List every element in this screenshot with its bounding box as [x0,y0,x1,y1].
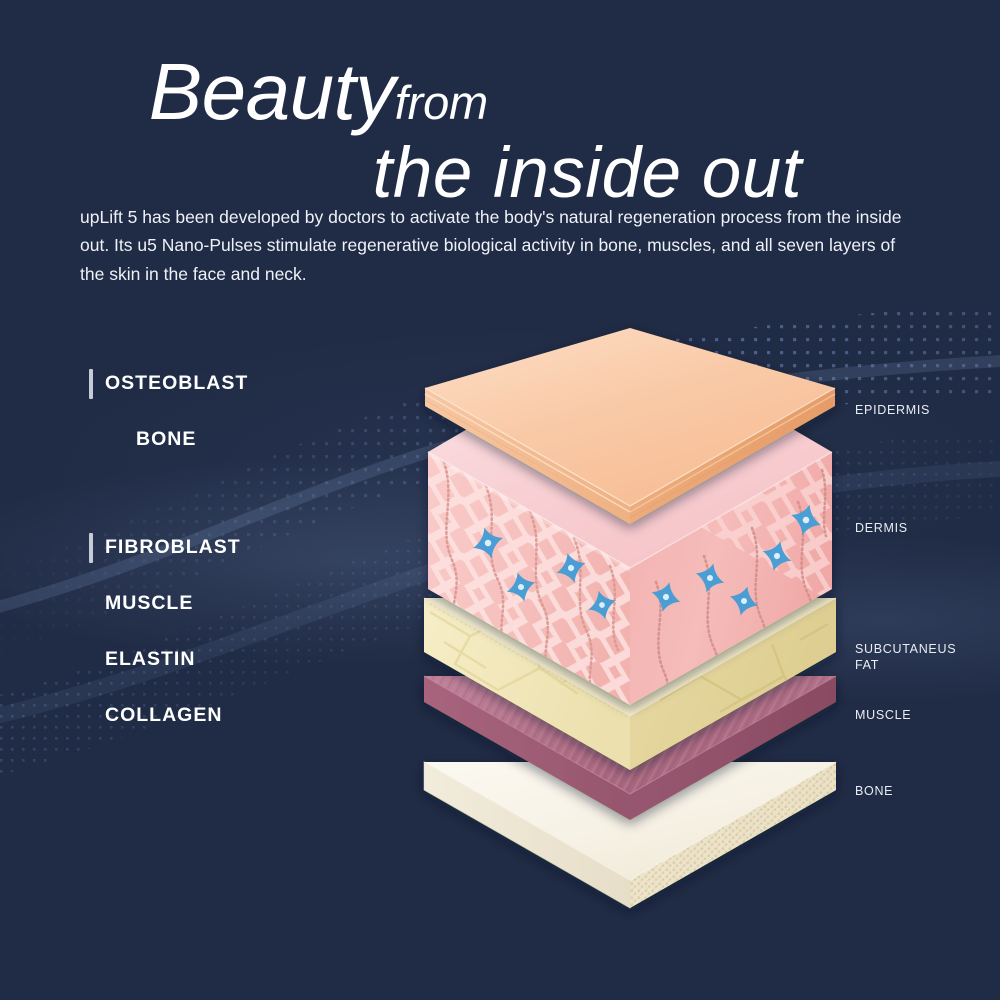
skin-layer-diagram [0,0,1000,1000]
infographic-canvas: Beautyfrom the inside out upLift 5 has b… [0,0,1000,1000]
